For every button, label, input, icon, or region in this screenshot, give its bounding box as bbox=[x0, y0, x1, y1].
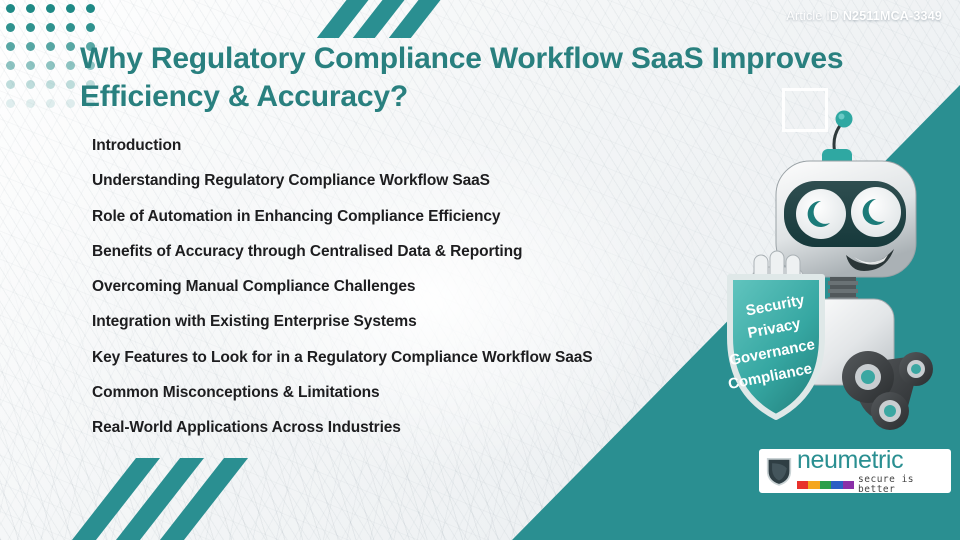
table-of-contents: Introduction Understanding Regulatory Co… bbox=[92, 137, 732, 455]
logo-tagline-row: secure is better bbox=[797, 475, 944, 494]
toc-item[interactable]: Integration with Existing Enterprise Sys… bbox=[92, 313, 732, 331]
toc-item[interactable]: Introduction bbox=[92, 137, 732, 155]
logo-wordmark: neumetric bbox=[797, 448, 944, 473]
security-shield: Security Privacy Governance Compliance bbox=[727, 277, 822, 417]
toc-item[interactable]: Common Misconceptions & Limitations bbox=[92, 384, 732, 402]
neumetric-logo[interactable]: neumetric secure is better bbox=[757, 447, 953, 495]
toc-item[interactable]: Understanding Regulatory Compliance Work… bbox=[92, 172, 732, 190]
robot-tread-wheel bbox=[842, 351, 933, 430]
logo-slogan: secure is better bbox=[858, 475, 944, 494]
toc-item[interactable]: Key Features to Look for in a Regulatory… bbox=[92, 349, 732, 367]
presentation-slide: Article ID N2511MCA-3349 Why Regulatory … bbox=[0, 0, 960, 540]
diagonal-slashes-bottom bbox=[100, 458, 260, 540]
article-id-label: Article ID bbox=[786, 9, 839, 23]
diagonal-slashes-top bbox=[330, 0, 460, 38]
article-id-value: N2511MCA-3349 bbox=[843, 9, 942, 23]
toc-item[interactable]: Benefits of Accuracy through Centralised… bbox=[92, 243, 732, 261]
robot-mascot: Security Privacy Governance Compliance bbox=[718, 105, 960, 435]
shield-logo-icon bbox=[766, 454, 792, 488]
article-id: Article ID N2511MCA-3349 bbox=[786, 9, 942, 23]
robot-illustration: Security Privacy Governance Compliance bbox=[718, 105, 960, 435]
toc-item[interactable]: Real-World Applications Across Industrie… bbox=[92, 419, 732, 437]
logo-color-bars bbox=[797, 481, 854, 489]
toc-item[interactable]: Role of Automation in Enhancing Complian… bbox=[92, 208, 732, 226]
toc-item[interactable]: Overcoming Manual Compliance Challenges bbox=[92, 278, 732, 296]
logo-text-block: neumetric secure is better bbox=[797, 448, 944, 494]
